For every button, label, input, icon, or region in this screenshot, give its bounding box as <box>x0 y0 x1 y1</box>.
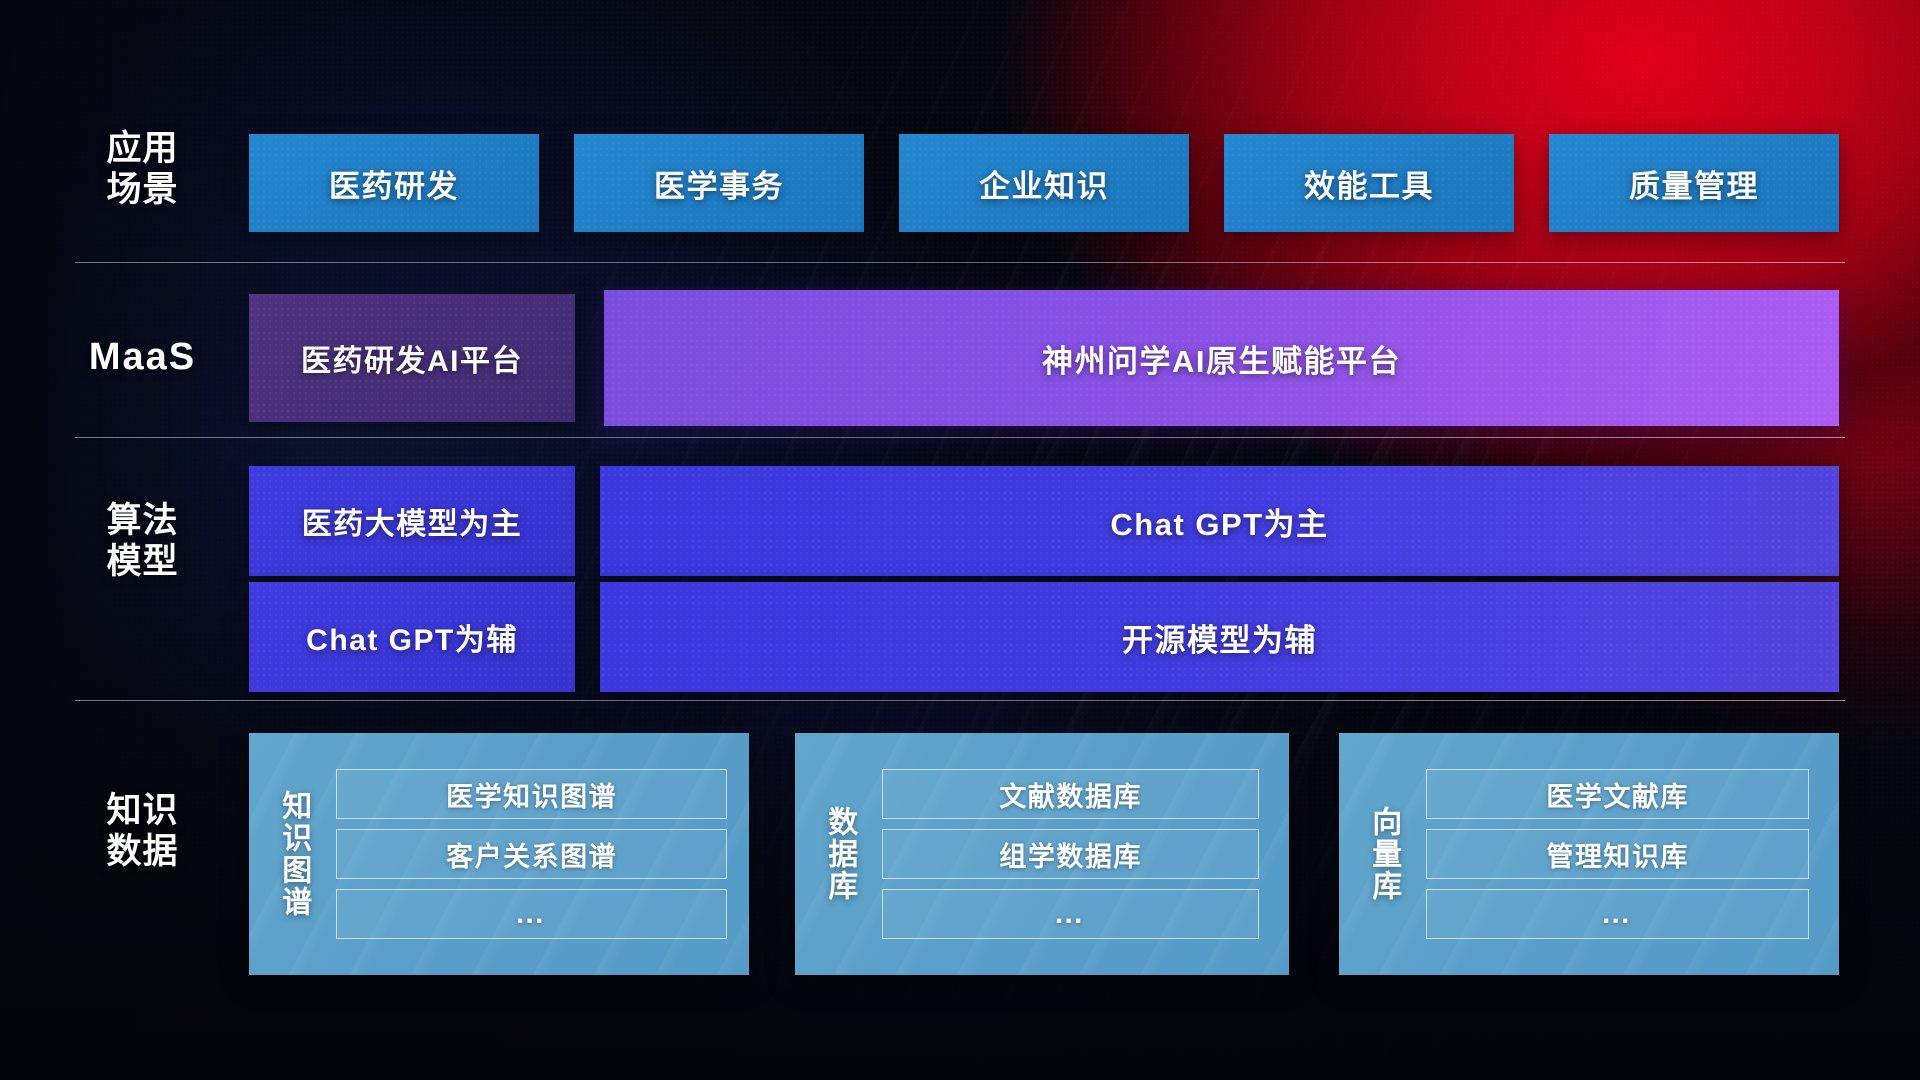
divider-algorithms-knowledge <box>75 700 1845 701</box>
knowledge-group-item-list: 文献数据库 组学数据库 … <box>882 769 1259 939</box>
knowledge-item[interactable]: 医学文献库 <box>1426 769 1809 819</box>
knowledge-group-vector-store[interactable]: 向量库 医学文献库 管理知识库 … <box>1339 733 1839 975</box>
maas-label: 神州问学AI原生赋能平台 <box>1042 336 1401 381</box>
divider-maas-algorithms <box>75 437 1845 438</box>
app-scenario-box-medical-rd[interactable]: 医药研发 <box>249 134 539 232</box>
knowledge-item-more[interactable]: … <box>1426 889 1809 939</box>
app-scenario-label: 医学事务 <box>654 161 784 206</box>
knowledge-group-item-list: 医学知识图谱 客户关系图谱 … <box>336 769 727 939</box>
knowledge-item[interactable]: 管理知识库 <box>1426 829 1809 879</box>
maas-label: 医药研发AI平台 <box>301 336 523 380</box>
row-label-maas: MaaS <box>75 335 210 380</box>
row-label-algorithm-models: 算法 模型 <box>75 500 210 583</box>
algorithm-label: Chat GPT为主 <box>1110 499 1328 544</box>
knowledge-item-more[interactable]: … <box>882 889 1259 939</box>
app-scenario-label: 质量管理 <box>1629 161 1759 206</box>
app-scenario-label: 企业知识 <box>979 161 1109 206</box>
algorithm-box-pharma-large-model-primary[interactable]: 医药大模型为主 <box>249 466 575 576</box>
app-scenario-box-quality-management[interactable]: 质量管理 <box>1549 134 1839 232</box>
divider-applications-maas <box>75 262 1845 263</box>
knowledge-item[interactable]: 医学知识图谱 <box>336 769 727 819</box>
knowledge-item[interactable]: 客户关系图谱 <box>336 829 727 879</box>
maas-box-pharma-ai-platform[interactable]: 医药研发AI平台 <box>249 294 575 422</box>
app-scenario-box-enterprise-knowledge[interactable]: 企业知识 <box>899 134 1189 232</box>
algorithm-box-open-source-auxiliary[interactable]: 开源模型为辅 <box>600 582 1839 692</box>
algorithm-label: 医药大模型为主 <box>302 499 523 543</box>
knowledge-group-title: 向量库 <box>1365 806 1402 902</box>
knowledge-item[interactable]: 文献数据库 <box>882 769 1259 819</box>
algorithm-box-chatgpt-auxiliary[interactable]: Chat GPT为辅 <box>249 582 575 692</box>
knowledge-item[interactable]: 组学数据库 <box>882 829 1259 879</box>
knowledge-group-knowledge-graph[interactable]: 知识图谱 医学知识图谱 客户关系图谱 … <box>249 733 749 975</box>
app-scenario-label: 医药研发 <box>329 161 459 206</box>
app-scenario-box-efficiency-tools[interactable]: 效能工具 <box>1224 134 1514 232</box>
row-label-application-scenarios: 应用 场景 <box>75 128 210 211</box>
knowledge-item-more[interactable]: … <box>336 889 727 939</box>
knowledge-group-title: 知识图谱 <box>275 790 312 918</box>
algorithm-box-chatgpt-primary[interactable]: Chat GPT为主 <box>600 466 1839 576</box>
knowledge-group-item-list: 医学文献库 管理知识库 … <box>1426 769 1809 939</box>
diagram-canvas: 应用 场景 MaaS 算法 模型 知识 数据 医药研发 医学事务 企业知识 效能… <box>0 0 1920 1080</box>
row-label-knowledge-data: 知识 数据 <box>75 790 210 873</box>
maas-box-shenzhou-wenxue-platform[interactable]: 神州问学AI原生赋能平台 <box>604 290 1839 426</box>
knowledge-group-title: 数据库 <box>821 806 858 902</box>
app-scenario-label: 效能工具 <box>1304 161 1434 206</box>
algorithm-label: Chat GPT为辅 <box>306 615 518 659</box>
knowledge-group-database[interactable]: 数据库 文献数据库 组学数据库 … <box>795 733 1289 975</box>
app-scenario-box-medical-affairs[interactable]: 医学事务 <box>574 134 864 232</box>
algorithm-label: 开源模型为辅 <box>1122 615 1317 660</box>
